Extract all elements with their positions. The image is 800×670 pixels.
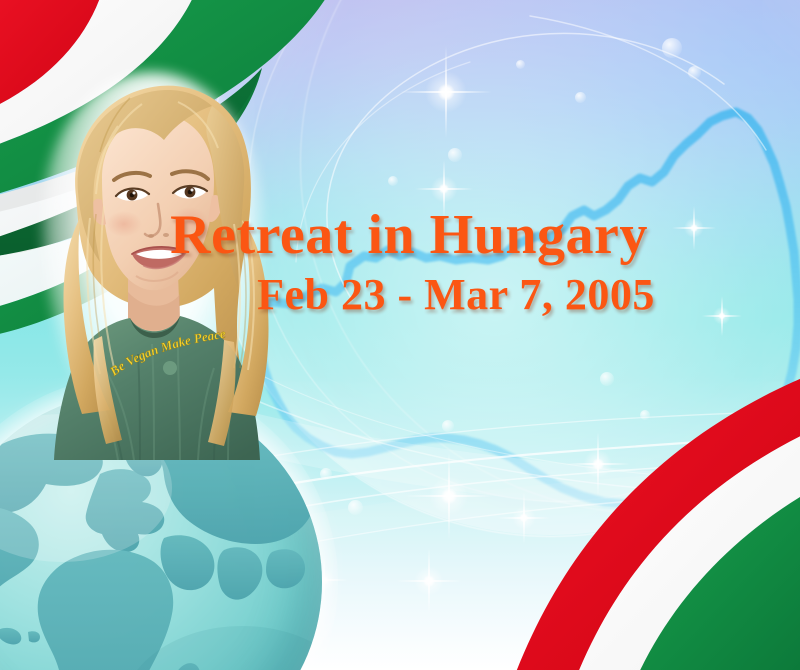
title-block: Retreat in Hungary Feb 23 - Mar 7, 2005 — [0, 206, 800, 320]
hungarian-flag-ribbon-bottom-right-icon — [476, 378, 800, 670]
page-title: Retreat in Hungary — [0, 206, 800, 264]
bubble-decor — [348, 500, 363, 515]
bubble-decor — [662, 38, 682, 58]
event-dates: Feb 23 - Mar 7, 2005 — [0, 270, 800, 319]
bubble-decor — [688, 66, 701, 79]
bubble-decor — [575, 92, 586, 103]
poster-canvas: Be Vegan Make Peace Retreat in Hungary F… — [0, 0, 800, 670]
bubble-decor — [448, 148, 462, 162]
bubble-decor — [516, 60, 525, 69]
bubble-decor — [442, 420, 454, 432]
